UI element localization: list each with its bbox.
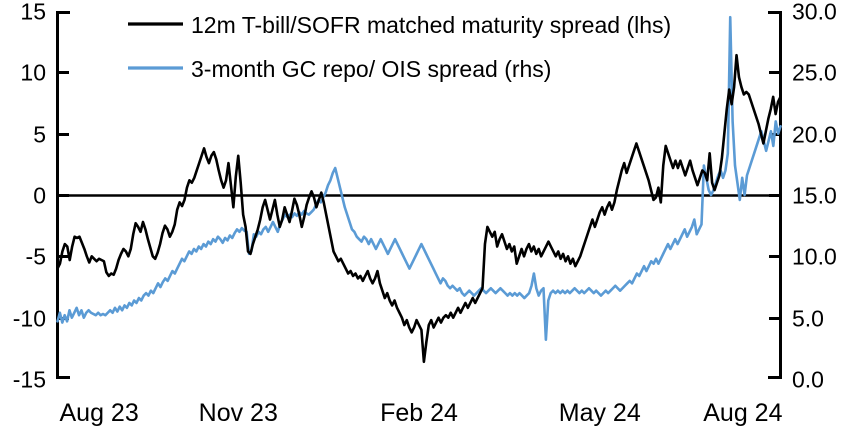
legend-label-tbill-sofr: 12m T-bill/SOFR matched maturity spread … xyxy=(191,12,671,38)
right-tick-label-0: 30.0 xyxy=(792,0,837,25)
left-tick-label-3: 0 xyxy=(33,183,46,209)
left-tick-label-4: -5 xyxy=(26,244,46,270)
left-tick-label-6: -15 xyxy=(13,367,46,393)
left-tick-label-0: 15 xyxy=(20,0,46,25)
left-tick-label-5: -10 xyxy=(13,306,46,332)
right-tick-label-4: 10.0 xyxy=(792,244,837,270)
legend-label-repo-ois: 3-month GC repo/ OIS spread (rhs) xyxy=(191,56,551,82)
right-tick-label-1: 25.0 xyxy=(792,60,837,86)
left-tick-label-1: 10 xyxy=(20,60,46,86)
right-tick-label-2: 20.0 xyxy=(792,122,837,148)
chart-container: 151050-5-10-15 30.025.020.015.010.05.00.… xyxy=(0,0,852,432)
right-tick-label-6: 0.0 xyxy=(792,367,824,393)
right-tick-label-3: 15.0 xyxy=(792,183,837,209)
x-tick-label-1: Nov 23 xyxy=(199,399,278,427)
x-tick-label-0: Aug 23 xyxy=(60,399,139,427)
line-chart: 151050-5-10-15 30.025.020.015.010.05.00.… xyxy=(0,0,852,432)
x-tick-label-4: Aug 24 xyxy=(703,399,782,427)
right-tick-label-5: 5.0 xyxy=(792,306,824,332)
left-tick-label-2: 5 xyxy=(33,122,46,148)
x-tick-label-3: May 24 xyxy=(559,399,641,427)
x-tick-label-2: Feb 24 xyxy=(380,399,458,427)
